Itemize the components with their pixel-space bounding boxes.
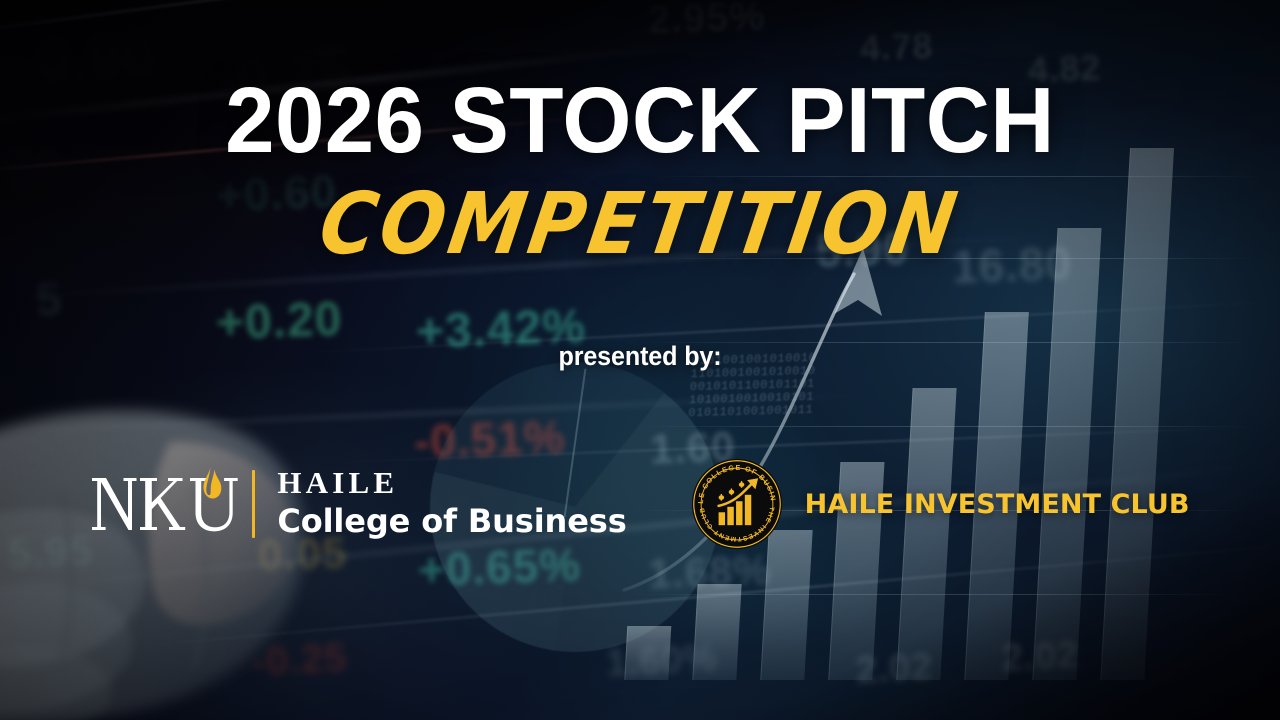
- investment-club-wordmark: HAILE INVESTMENT CLUB: [805, 489, 1190, 520]
- haile-label: HAILE: [277, 467, 626, 500]
- nku-haile-college-logo: HAILE College of Business: [90, 466, 626, 542]
- logo-divider: [252, 470, 255, 538]
- stock-pitch-competition-poster: -0.90-0.252.95%4.784.8250+0.605+0.20+3.4…: [0, 0, 1280, 720]
- college-of-business-label: College of Business: [277, 503, 626, 541]
- page-title: 2026 STOCK PITCH: [29, 74, 1251, 167]
- nku-wordmark: [90, 466, 242, 542]
- haile-college-text: HAILE College of Business: [277, 467, 626, 540]
- page-subtitle: COMPETITION: [0, 181, 1280, 266]
- investment-club-badge-icon: HAILE COLLEGE OF BUSINESS THE INVESTMENT…: [691, 458, 783, 550]
- presented-by-label: presented by:: [45, 341, 1235, 372]
- haile-investment-club-logo: HAILE COLLEGE OF BUSINESS THE INVESTMENT…: [691, 458, 1190, 550]
- sponsor-logo-row: HAILE College of Business HAILE: [0, 448, 1280, 560]
- flame-icon: [204, 468, 222, 499]
